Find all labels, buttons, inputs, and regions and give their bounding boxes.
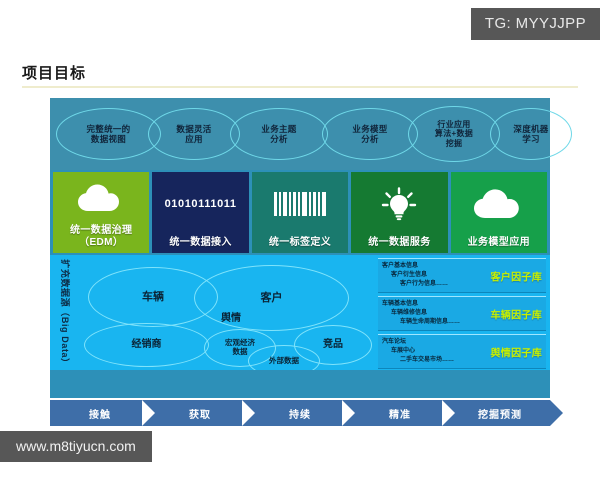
goal-ellipse[interactable]: 完整统一的数据视图 (56, 108, 161, 160)
capability-card-label: 统一数据治理（EDM） (70, 225, 132, 249)
cloud-icon (451, 172, 547, 237)
process-arrow-bar: 接触 获取 持续 精准 挖掘预测 (50, 400, 550, 426)
binary-string: 01010111011 (165, 198, 237, 210)
goal-ellipse[interactable]: 深度机器学习 (490, 108, 572, 160)
bigdata-vertical-label-text: 扩充数据源（Big Data） (59, 259, 72, 368)
process-step-label: 获取 (189, 406, 211, 421)
goal-label: 完整统一的数据视图 (86, 124, 130, 144)
barcode-icon (252, 172, 348, 237)
process-step[interactable]: 持续 (250, 400, 350, 426)
bigdata-vertical-label: 扩充数据源（Big Data） (52, 259, 78, 367)
goal-ellipse[interactable]: 数据灵活应用 (148, 108, 240, 160)
process-step-label: 精准 (389, 406, 411, 421)
process-step-label: 持续 (289, 406, 311, 421)
goal-label: 业务主题分析 (261, 124, 296, 144)
bulb-icon (351, 172, 447, 237)
capability-card-label: 统一标签定义 (269, 237, 331, 249)
goal-ellipse[interactable]: 业务主题分析 (230, 108, 328, 160)
capability-card-business-model[interactable]: 业务模型应用 (451, 172, 547, 253)
architecture-diagram: 完整统一的数据视图 数据灵活应用 业务主题分析 业务模型分析 行业应用算法+数据… (50, 98, 550, 398)
binary-icon: 01010111011 (152, 172, 248, 237)
venn-opinion: 舆情 (196, 309, 266, 324)
tg-badge: TG: MYYJJPP (471, 8, 600, 40)
goal-label: 深度机器学习 (513, 124, 548, 144)
factor-panel-name: 客户因子库 (491, 268, 543, 283)
process-step-label: 接触 (89, 406, 111, 421)
factor-panel-opinion[interactable]: 汽车论坛 车展中心 二手车交易市场…… 舆情因子库 (378, 334, 546, 369)
process-step[interactable]: 精准 (350, 400, 450, 426)
goal-ellipse[interactable]: 行业应用算法+数据挖掘 (408, 106, 500, 162)
factor-panels: 客户基本信息 客户衍生信息 客户行为信息…… 客户因子库 车辆基本信息 车辆维修… (378, 258, 546, 368)
data-source-venn: 车辆 客户 经销商 宏观经济数据 外部数据 竞品 舆情 (76, 255, 376, 370)
capability-card-ingest[interactable]: 01010111011 统一数据接入 (152, 172, 248, 253)
capability-card-label: 统一数据接入 (169, 237, 231, 249)
factor-panel-name: 车辆因子库 (491, 306, 543, 321)
factor-panel-name: 舆情因子库 (491, 344, 543, 359)
goals-band: 完整统一的数据视图 数据灵活应用 业务主题分析 业务模型分析 行业应用算法+数据… (50, 98, 550, 170)
cloud-icon (53, 172, 149, 225)
goal-label: 行业应用算法+数据挖掘 (435, 120, 473, 148)
capability-card-tagging[interactable]: 统一标签定义 (252, 172, 348, 253)
venn-competitor[interactable]: 竞品 (294, 325, 372, 365)
venn-dealer[interactable]: 经销商 (84, 323, 209, 367)
process-step[interactable]: 获取 (150, 400, 250, 426)
capability-card-service[interactable]: 统一数据服务 (351, 172, 447, 253)
title-divider (22, 86, 578, 88)
process-step[interactable]: 挖掘预测 (450, 400, 550, 426)
goal-label: 数据灵活应用 (176, 124, 211, 144)
page-title: 项目目标 (22, 62, 86, 83)
process-step[interactable]: 接触 (50, 400, 150, 426)
capability-card-edm[interactable]: 统一数据治理（EDM） (53, 172, 149, 253)
capability-cards: 统一数据治理（EDM） 01010111011 统一数据接入 统一标签定义 (50, 170, 550, 255)
goal-ellipse[interactable]: 业务模型分析 (322, 108, 418, 160)
goal-label: 业务模型分析 (352, 124, 387, 144)
process-step-label: 挖掘预测 (478, 406, 522, 421)
bigdata-layer: 扩充数据源（Big Data） 车辆 客户 经销商 宏观经济数据 外部数据 竞品… (50, 255, 550, 370)
site-watermark: www.m8tiyucn.com (0, 431, 152, 462)
capability-card-label: 业务模型应用 (468, 237, 530, 249)
factor-panel-vehicle[interactable]: 车辆基本信息 车辆维修信息 车辆生命周期信息…… 车辆因子库 (378, 296, 546, 331)
capability-card-label: 统一数据服务 (368, 237, 430, 249)
factor-panel-customer[interactable]: 客户基本信息 客户衍生信息 客户行为信息…… 客户因子库 (378, 258, 546, 293)
